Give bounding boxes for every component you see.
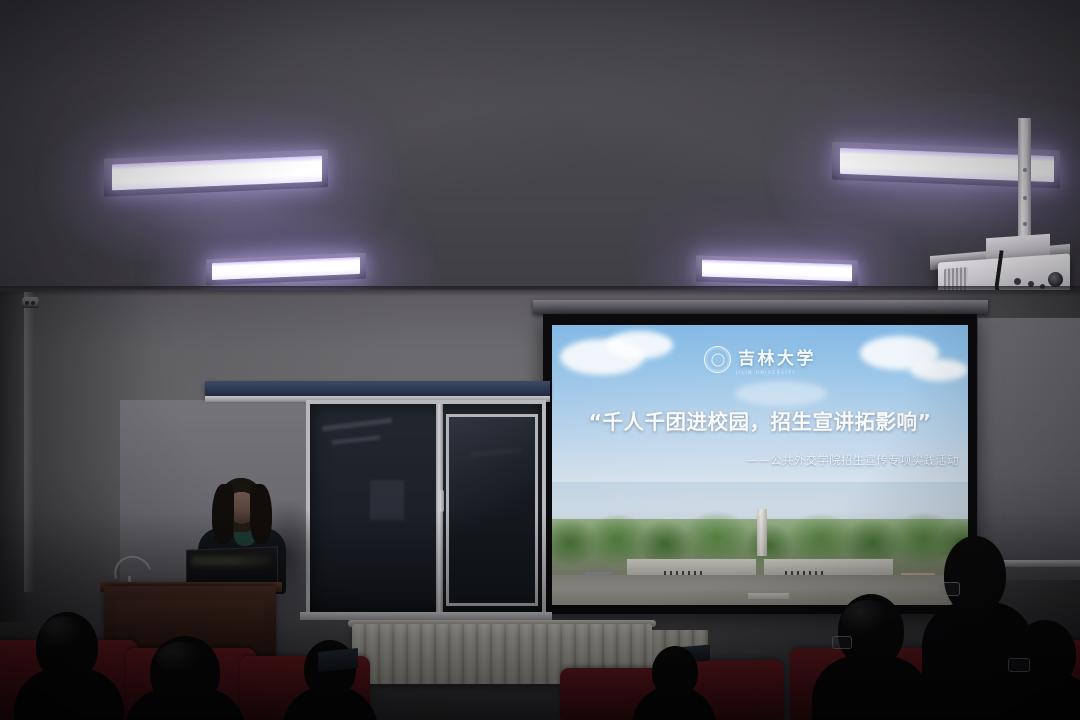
cloud-4 bbox=[910, 359, 968, 381]
audience-member-5 bbox=[812, 594, 930, 720]
audience-laptop-1[interactable] bbox=[318, 648, 358, 672]
slide-subtitle: ——公共外交学院招生宣传专项实践活动 bbox=[747, 452, 959, 468]
audience-member-6-head bbox=[944, 536, 1006, 614]
slide-title: “千人千团进校园，招生宣讲拓影响” bbox=[552, 405, 968, 435]
projector-pole-bolt-1 bbox=[1023, 168, 1027, 172]
audience-member-1 bbox=[14, 612, 124, 720]
window-light-reflection-2 bbox=[332, 436, 380, 445]
left-corner-shadow bbox=[0, 292, 26, 622]
wall-speaker-icon bbox=[22, 297, 39, 308]
university-logo: 吉林大学 JILIN UNIVERSITY bbox=[704, 346, 816, 373]
window-sill bbox=[300, 612, 552, 620]
audience-member-6-glasses bbox=[938, 582, 960, 596]
projector-lens bbox=[1048, 272, 1063, 287]
presenter-laptop-screen-glow bbox=[192, 556, 270, 566]
classroom-window bbox=[306, 400, 546, 616]
window-handle[interactable] bbox=[440, 490, 444, 512]
audience-member-7-glasses bbox=[1008, 658, 1030, 672]
photo-monument bbox=[757, 509, 768, 556]
audience-member-5-glasses bbox=[832, 636, 852, 649]
projector-pole-bolt-3 bbox=[1023, 222, 1027, 226]
audience-member-7-head bbox=[1014, 620, 1076, 688]
audience-member-4-head bbox=[652, 646, 698, 698]
audience-member-2 bbox=[124, 636, 246, 720]
projection-screen-surface: 吉林大学 JILIN UNIVERSITY “千人千团进校园，招生宣讲拓影响” … bbox=[552, 325, 968, 605]
projector-pole-bolt-2 bbox=[1023, 196, 1027, 200]
window-sash-right bbox=[446, 414, 538, 606]
projector-knob-1[interactable] bbox=[1014, 278, 1021, 285]
campus-photo bbox=[552, 482, 968, 605]
screen-roller-housing bbox=[533, 300, 988, 314]
cloud-2 bbox=[606, 331, 673, 359]
presenter-hair-left bbox=[212, 484, 234, 544]
window-light-reflection-1 bbox=[322, 418, 392, 431]
audience-member-2-hair-highlight bbox=[156, 642, 204, 676]
wall-corner-pillar bbox=[24, 292, 34, 592]
projection-screen-frame: 吉林大学 JILIN UNIVERSITY “千人千团进校园，招生宣讲拓影响” … bbox=[543, 314, 977, 614]
university-name-pinyin: JILIN UNIVERSITY bbox=[736, 371, 796, 376]
cloud-5 bbox=[735, 381, 827, 406]
lecture-hall-photo: 吉林大学 JILIN UNIVERSITY “千人千团进校园，招生宣讲拓影响” … bbox=[0, 0, 1080, 720]
audience-member-1-hair-highlight bbox=[40, 616, 86, 652]
presenter-hair-right bbox=[250, 484, 272, 544]
projector-mount-pole bbox=[1018, 118, 1031, 246]
audience-member-5-hair-highlight bbox=[842, 600, 892, 638]
audience-member-7 bbox=[1002, 620, 1080, 720]
university-name: 吉林大学 bbox=[738, 351, 816, 368]
window-interior-glow bbox=[370, 480, 404, 520]
university-seal-icon bbox=[704, 346, 731, 373]
audience-member-4 bbox=[632, 646, 716, 720]
photo-plaza-sign bbox=[748, 593, 790, 599]
